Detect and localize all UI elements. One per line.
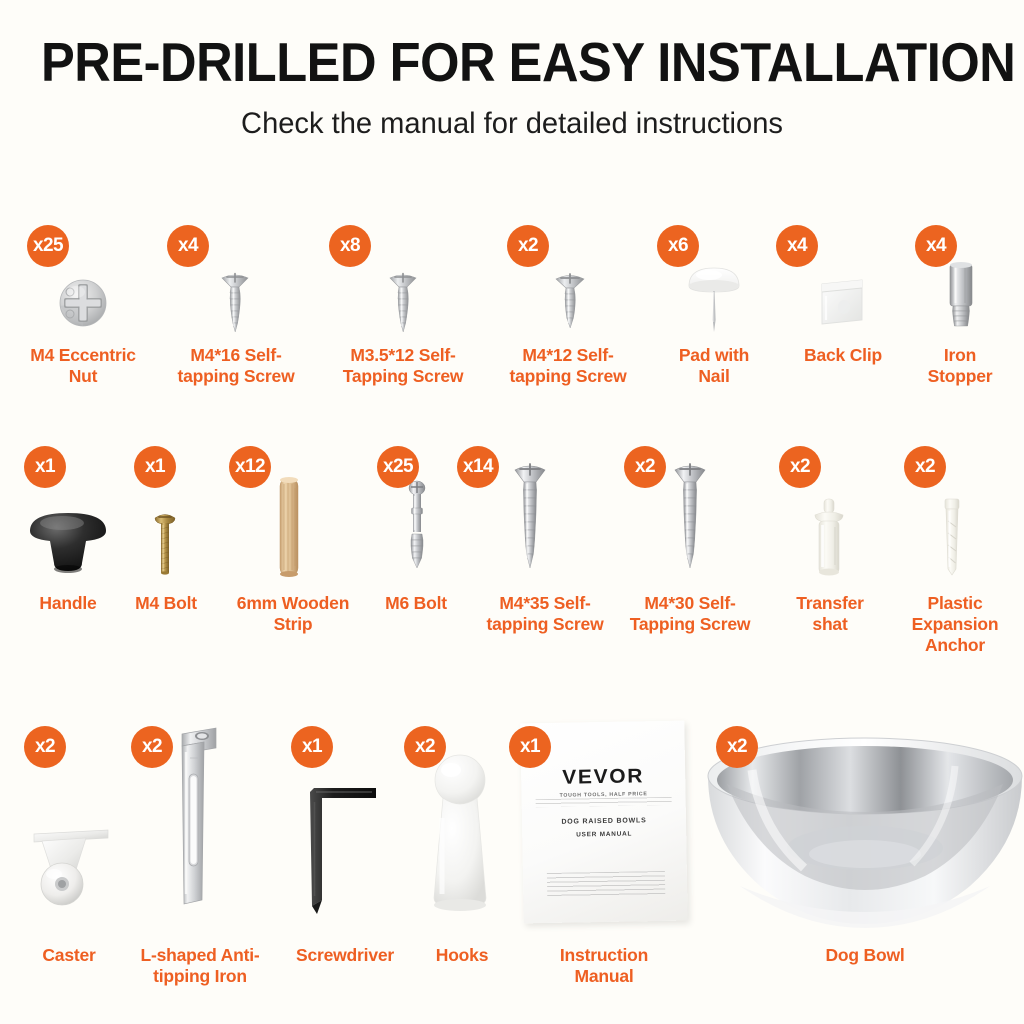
qty-badge: x1 [24,446,66,488]
eccentric-nut-icon [52,272,114,334]
l-bracket-icon [168,722,228,922]
qty-badge: x1 [509,726,551,768]
manual-product-line: DOG RAISED BOWLS [522,817,686,827]
qty-badge: x25 [377,446,419,488]
part-label: M4 EccentricNut [8,345,158,387]
m6-bolt-icon [400,478,434,582]
qty-badge: x4 [915,225,957,267]
qty-badge: x1 [134,446,176,488]
part-label: IronStopper [898,345,1022,387]
qty-badge: x8 [329,225,371,267]
qty-badge: x2 [507,225,549,267]
self-tapping-screw-icon [216,270,254,340]
allen-key-icon [300,768,386,922]
manual-doc-type: USER MANUAL [522,830,686,840]
parts-grid: x25 M4 EccentricNut x4 [0,0,1024,1024]
qty-badge: x4 [776,225,818,267]
m4-bolt-icon [150,510,180,580]
caster-wheel-icon [28,826,114,910]
part-label: L-shaped Anti-tipping Iron [120,945,280,987]
part-label: M6 Bolt [360,593,472,614]
qty-badge: x4 [167,225,209,267]
qty-badge: x12 [229,446,271,488]
pad-with-nail-icon [676,258,752,336]
hook-peg-icon [424,748,496,920]
part-label: Screwdriver [272,945,418,966]
qty-badge: x1 [291,726,333,768]
manual-brand: VEVOR [517,765,690,791]
qty-badge: x2 [131,726,173,768]
wooden-dowel-icon [272,472,306,582]
qty-badge: x2 [716,726,758,768]
part-label: M4*30 Self-Tapping Screw [604,593,776,635]
self-tapping-screw-icon [384,270,422,340]
part-label: InstructionManual [522,945,686,987]
part-label: Dog Bowl [790,945,940,966]
part-label: M4*16 Self-tapping Screw [152,345,320,387]
dog-bowl-icon [700,736,1024,932]
back-clip-icon [812,274,874,332]
part-label: PlasticExpansionAnchor [888,593,1022,656]
part-label: M4*12 Self-tapping Screw [482,345,654,387]
part-label: M3.5*12 Self-Tapping Screw [316,345,490,387]
qty-badge: x2 [779,446,821,488]
part-label: Transfershat [766,593,894,635]
qty-badge: x25 [27,225,69,267]
qty-badge: x2 [904,446,946,488]
part-label: Pad withNail [648,345,780,387]
self-tapping-screw-icon [551,270,589,340]
qty-badge: x2 [404,726,446,768]
qty-badge: x6 [657,225,699,267]
part-label: M4 Bolt [110,593,222,614]
long-screw-icon [672,460,708,586]
transfer-shaft-icon [805,495,853,581]
iron-stopper-icon [941,258,981,334]
expansion-anchor-icon [933,495,971,581]
part-label: Hooks [404,945,520,966]
qty-badge: x14 [457,446,499,488]
handle-knob-icon [18,505,118,577]
long-screw-icon [512,460,548,586]
qty-badge: x2 [24,726,66,768]
part-label: Back Clip [780,345,906,366]
part-label: Caster [10,945,128,966]
qty-badge: x2 [624,446,666,488]
part-label: 6mm WoodenStrip [218,593,368,635]
